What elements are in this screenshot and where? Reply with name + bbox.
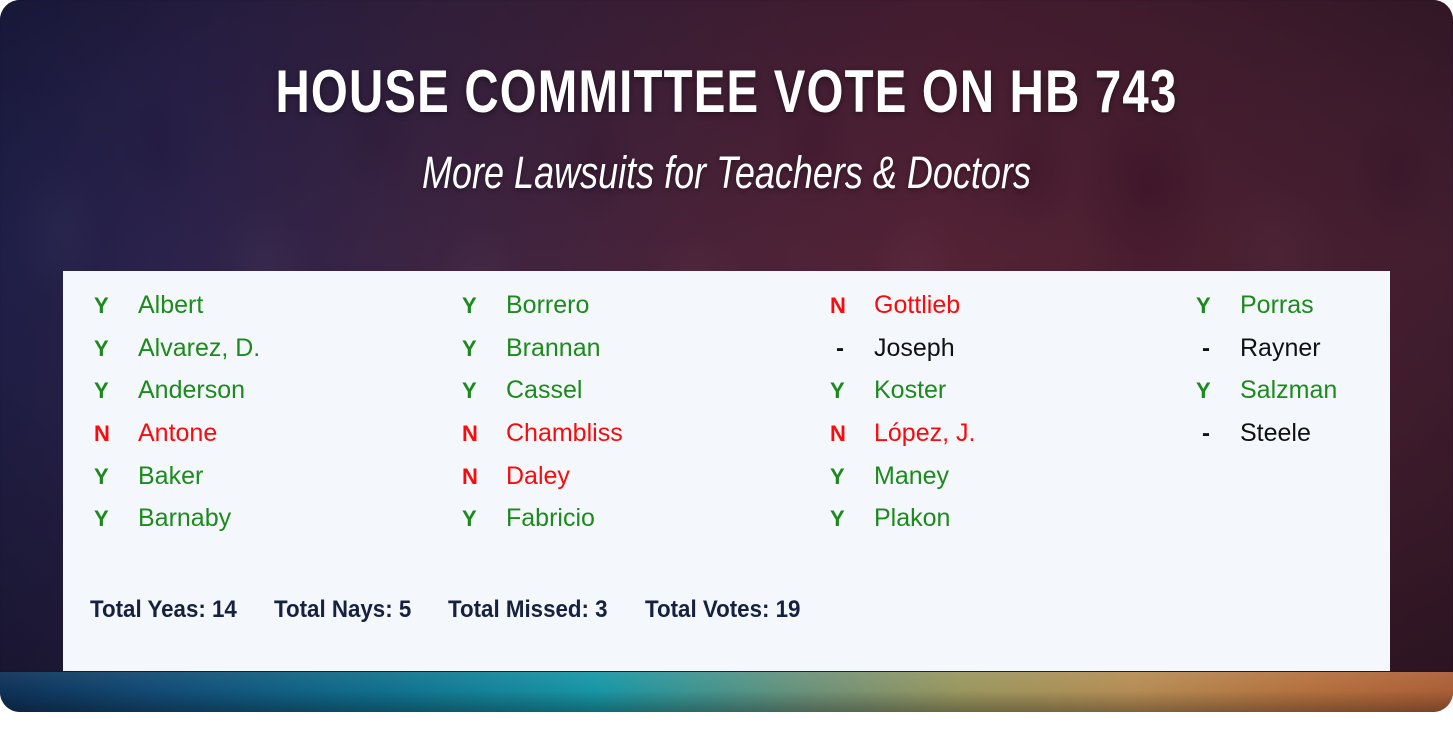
legislator-name: Salzman: [1240, 376, 1337, 405]
legislator-name: Antone: [138, 419, 217, 448]
bottom-gradient-bar: [0, 672, 1453, 712]
vote-mark: Y: [458, 336, 506, 362]
vote-mark: Y: [1192, 293, 1240, 319]
table-row[interactable]: -Rayner: [1192, 334, 1390, 377]
legislator-name: Cassel: [506, 376, 582, 405]
vote-mark: N: [826, 421, 874, 447]
legislator-name: Koster: [874, 376, 946, 405]
vote-mark: N: [90, 421, 138, 447]
vote-result-card: HOUSE COMMITTEE VOTE ON HB 743 More Laws…: [0, 0, 1453, 712]
table-row[interactable]: YAnderson: [90, 376, 458, 419]
table-row[interactable]: YSalzman: [1192, 376, 1390, 419]
table-row[interactable]: YBorrero: [458, 291, 826, 334]
totals-row: Total Yeas: 14Total Nays: 5Total Missed:…: [90, 596, 812, 624]
total-value: 5: [399, 596, 411, 623]
table-row[interactable]: YBarnaby: [90, 504, 458, 547]
legislator-name: Gottlieb: [874, 291, 960, 320]
vote-grid: YAlbertYAlvarez, D.YAndersonNAntoneYBake…: [90, 291, 1390, 547]
table-row[interactable]: YBrannan: [458, 334, 826, 377]
legislator-name: Alvarez, D.: [138, 334, 260, 363]
legislator-name: Maney: [874, 462, 949, 491]
vote-column-4: YPorras-RaynerYSalzman-Steele: [1192, 291, 1390, 547]
table-row[interactable]: YManey: [826, 462, 1192, 505]
table-row[interactable]: YKoster: [826, 376, 1192, 419]
legislator-name: Fabricio: [506, 504, 595, 533]
total-totalyeas: Total Yeas: 14: [90, 596, 237, 624]
legislator-name: Anderson: [138, 376, 245, 405]
legislator-name: Albert: [138, 291, 203, 320]
vote-mark: Y: [826, 506, 874, 532]
vote-mark: Y: [458, 506, 506, 532]
table-row[interactable]: YAlvarez, D.: [90, 334, 458, 377]
table-row[interactable]: NGottlieb: [826, 291, 1192, 334]
legislator-name: López, J.: [874, 419, 975, 448]
vote-mark: Y: [90, 293, 138, 319]
legislator-name: Borrero: [506, 291, 589, 320]
page-subtitle: More Lawsuits for Teachers & Doctors: [145, 150, 1307, 195]
vote-mark: Y: [90, 506, 138, 532]
legislator-name: Brannan: [506, 334, 601, 363]
table-row[interactable]: YPlakon: [826, 504, 1192, 547]
legislator-name: Barnaby: [138, 504, 231, 533]
vote-mark: -: [826, 335, 874, 363]
vote-mark: Y: [826, 464, 874, 490]
table-row[interactable]: YFabricio: [458, 504, 826, 547]
vote-column-2: YBorreroYBrannanYCasselNChamblissNDaleyY…: [458, 291, 826, 547]
legislator-name: Joseph: [874, 334, 955, 363]
vote-mark: Y: [826, 378, 874, 404]
legislator-name: Rayner: [1240, 334, 1321, 363]
table-row[interactable]: YPorras: [1192, 291, 1390, 334]
page-title: HOUSE COMMITTEE VOTE ON HB 743: [153, 62, 1301, 122]
vote-mark: Y: [1192, 378, 1240, 404]
vote-column-3: NGottlieb-JosephYKosterNLópez, J.YManeyY…: [826, 291, 1192, 547]
table-row[interactable]: YBaker: [90, 462, 458, 505]
table-row[interactable]: NChambliss: [458, 419, 826, 462]
vote-mark: N: [826, 293, 874, 319]
table-row[interactable]: YAlbert: [90, 291, 458, 334]
vote-mark: -: [1192, 420, 1240, 448]
title-block: HOUSE COMMITTEE VOTE ON HB 743 More Laws…: [0, 62, 1453, 195]
total-value: 3: [595, 596, 607, 623]
table-row[interactable]: YCassel: [458, 376, 826, 419]
vote-mark: Y: [458, 378, 506, 404]
total-totalmissed: Total Missed: 3: [448, 596, 608, 624]
legislator-name: Chambliss: [506, 419, 623, 448]
total-label: Total Yeas:: [90, 596, 206, 623]
total-value: 19: [776, 596, 801, 623]
legislator-name: Plakon: [874, 504, 950, 533]
legislator-name: Porras: [1240, 291, 1314, 320]
vote-mark: Y: [458, 293, 506, 319]
legislator-name: Daley: [506, 462, 570, 491]
vote-mark: Y: [90, 464, 138, 490]
legislator-name: Steele: [1240, 419, 1311, 448]
vote-mark: N: [458, 464, 506, 490]
table-row[interactable]: -Steele: [1192, 419, 1390, 462]
table-row[interactable]: NLópez, J.: [826, 419, 1192, 462]
vote-column-1: YAlbertYAlvarez, D.YAndersonNAntoneYBake…: [90, 291, 458, 547]
vote-mark: Y: [90, 336, 138, 362]
table-row[interactable]: -Joseph: [826, 334, 1192, 377]
total-totalnays: Total Nays: 5: [274, 596, 411, 624]
legislator-name: Baker: [138, 462, 203, 491]
total-label: Total Nays:: [274, 596, 393, 623]
total-label: Total Votes:: [645, 596, 769, 623]
vote-mark: -: [1192, 335, 1240, 363]
vote-mark: N: [458, 421, 506, 447]
table-row[interactable]: NAntone: [90, 419, 458, 462]
total-totalvotes: Total Votes: 19: [645, 596, 800, 624]
bottom-bar-shading: [0, 672, 1453, 712]
vote-mark: Y: [90, 378, 138, 404]
table-row[interactable]: NDaley: [458, 462, 826, 505]
results-panel: YAlbertYAlvarez, D.YAndersonNAntoneYBake…: [63, 271, 1390, 671]
total-label: Total Missed:: [448, 596, 589, 623]
total-value: 14: [212, 596, 237, 623]
